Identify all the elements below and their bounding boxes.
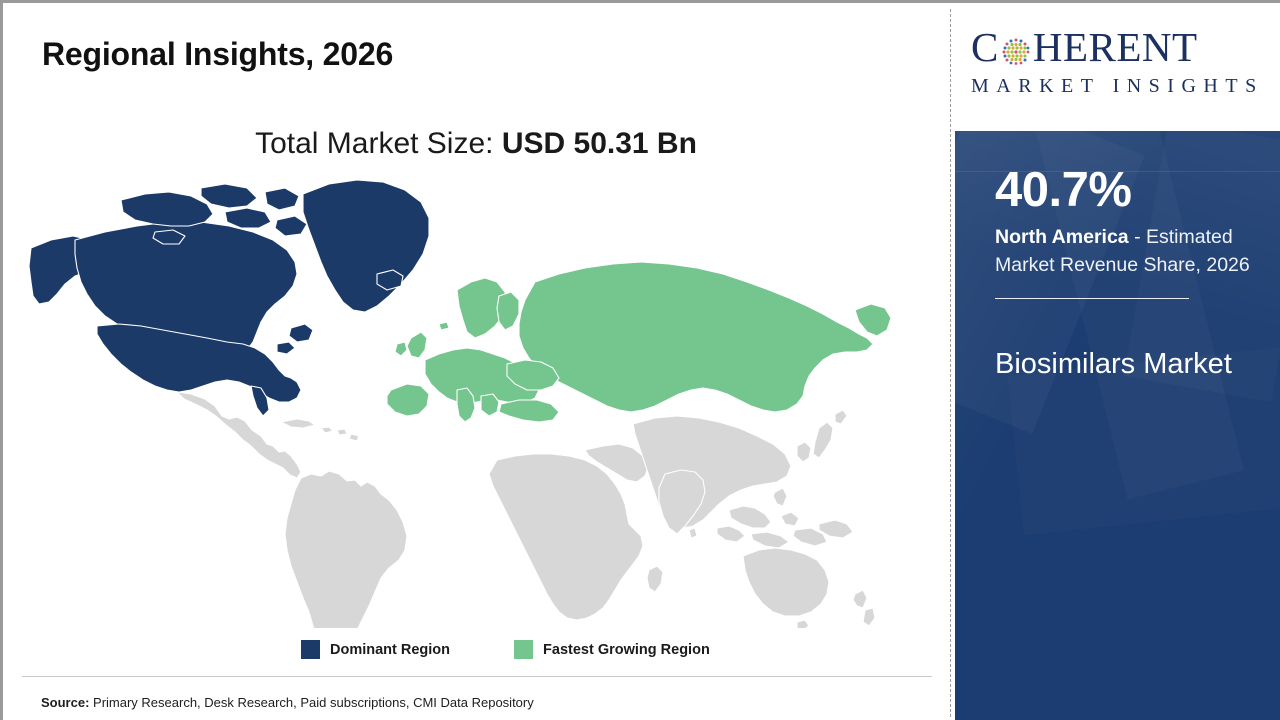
total-market-size: Total Market Size: USD 50.31 Bn bbox=[3, 127, 949, 161]
logo-wordmark: C bbox=[971, 27, 1267, 68]
source-text: Primary Research, Desk Research, Paid su… bbox=[93, 695, 534, 710]
dominant-region-swatch bbox=[301, 640, 320, 659]
map-region-dominant bbox=[29, 180, 429, 416]
legend-label-fastest-growing: Fastest Growing Region bbox=[543, 642, 710, 658]
logo-letter-c: C bbox=[971, 27, 999, 68]
world-map bbox=[29, 178, 909, 628]
map-region-other bbox=[177, 392, 875, 628]
panel-divider-dashed bbox=[950, 9, 951, 717]
regional-insights-infographic: Regional Insights, 2026 Total Market Siz… bbox=[0, 0, 1280, 720]
market-share-percentage: 40.7% bbox=[995, 166, 1131, 215]
market-name: Biosimilars Market bbox=[995, 343, 1265, 387]
logo-tagline: MARKET INSIGHTS bbox=[971, 75, 1267, 98]
legend-item-dominant: Dominant Region bbox=[301, 640, 450, 659]
world-map-svg bbox=[29, 178, 909, 628]
globe-dots-svg bbox=[1000, 35, 1032, 67]
info-panel: 40.7% North America - Estimated Market R… bbox=[955, 131, 1280, 720]
market-share-description: North America - Estimated Market Revenue… bbox=[995, 224, 1257, 279]
info-panel-divider bbox=[995, 298, 1189, 299]
legend-label-dominant: Dominant Region bbox=[330, 642, 450, 658]
total-market-size-value: USD 50.31 Bn bbox=[502, 127, 697, 160]
logo-letters-herent: HERENT bbox=[1033, 27, 1198, 68]
globe-dots-icon bbox=[1000, 33, 1032, 65]
highlight-region-name: North America bbox=[995, 226, 1129, 248]
source-divider bbox=[22, 676, 932, 677]
coherent-market-insights-logo: C bbox=[971, 27, 1267, 98]
map-legend: Dominant Region Fastest Growing Region bbox=[301, 640, 710, 659]
source-label: Source: bbox=[41, 695, 89, 710]
fastest-growing-region-swatch bbox=[514, 640, 533, 659]
total-market-size-label: Total Market Size: bbox=[255, 127, 493, 160]
source-note: Source: Primary Research, Desk Research,… bbox=[41, 695, 534, 710]
logo-area: C bbox=[955, 3, 1280, 131]
left-content-panel: Regional Insights, 2026 Total Market Siz… bbox=[3, 3, 949, 720]
page-title: Regional Insights, 2026 bbox=[42, 36, 393, 73]
map-region-fastest-growing bbox=[387, 262, 891, 422]
legend-item-fastest-growing: Fastest Growing Region bbox=[514, 640, 710, 659]
